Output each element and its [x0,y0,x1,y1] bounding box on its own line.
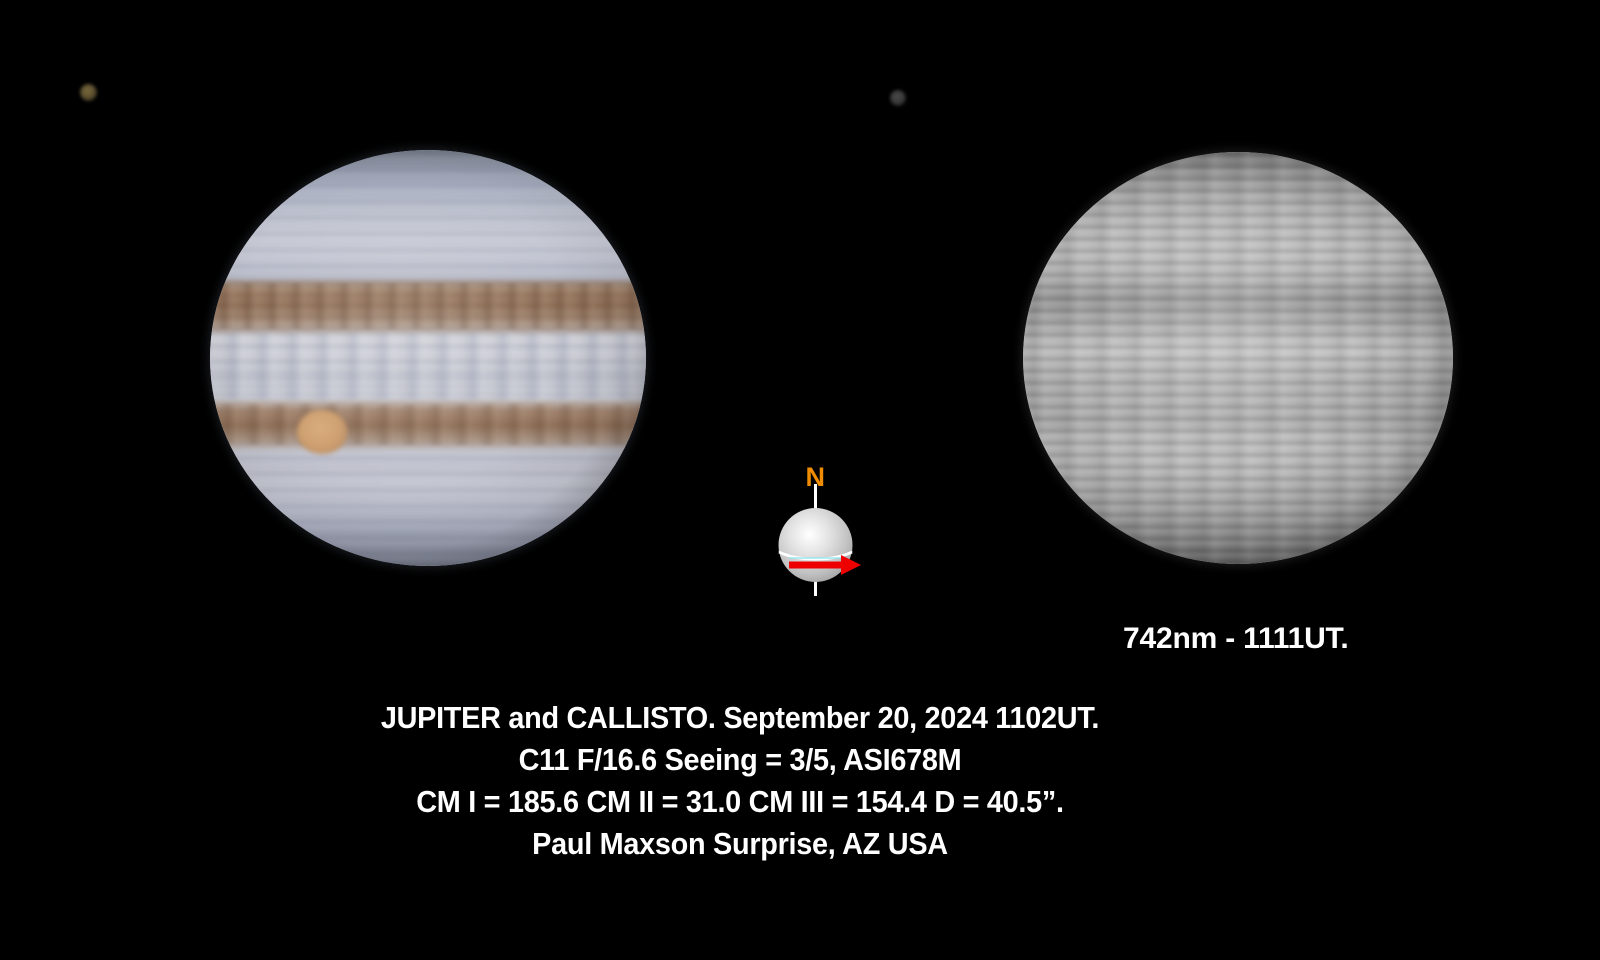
jupiter-rgb-disk [210,150,646,566]
caption-line-meridians: CM I = 185.6 CM II = 31.0 CM III = 154.4… [52,781,1428,823]
orientation-compass: N [733,462,898,610]
north-label: N [733,464,898,491]
caption-line-target: JUPITER and CALLISTO. September 20, 2024… [52,697,1428,739]
callisto-moon-rgb [80,84,97,101]
jupiter-ir-limb-darkening [1023,152,1453,564]
north-label-text: N [806,462,826,492]
jupiter-ir-disk [1023,152,1453,564]
jupiter-rgb-limb-darkening [210,150,646,566]
caption-block: JUPITER and CALLISTO. September 20, 2024… [0,697,1480,865]
callisto-moon-ir [890,90,906,106]
caption-line-observer: Paul Maxson Surprise, AZ USA [52,823,1428,865]
ir-channel-label: 742nm - 1111UT. [1123,622,1349,656]
astrophoto-plate: N 742nm - 1111UT. JUPITER and CALLISTO. … [0,0,1600,960]
caption-line-equipment: C11 F/16.6 Seeing = 3/5, ASI678M [52,739,1428,781]
